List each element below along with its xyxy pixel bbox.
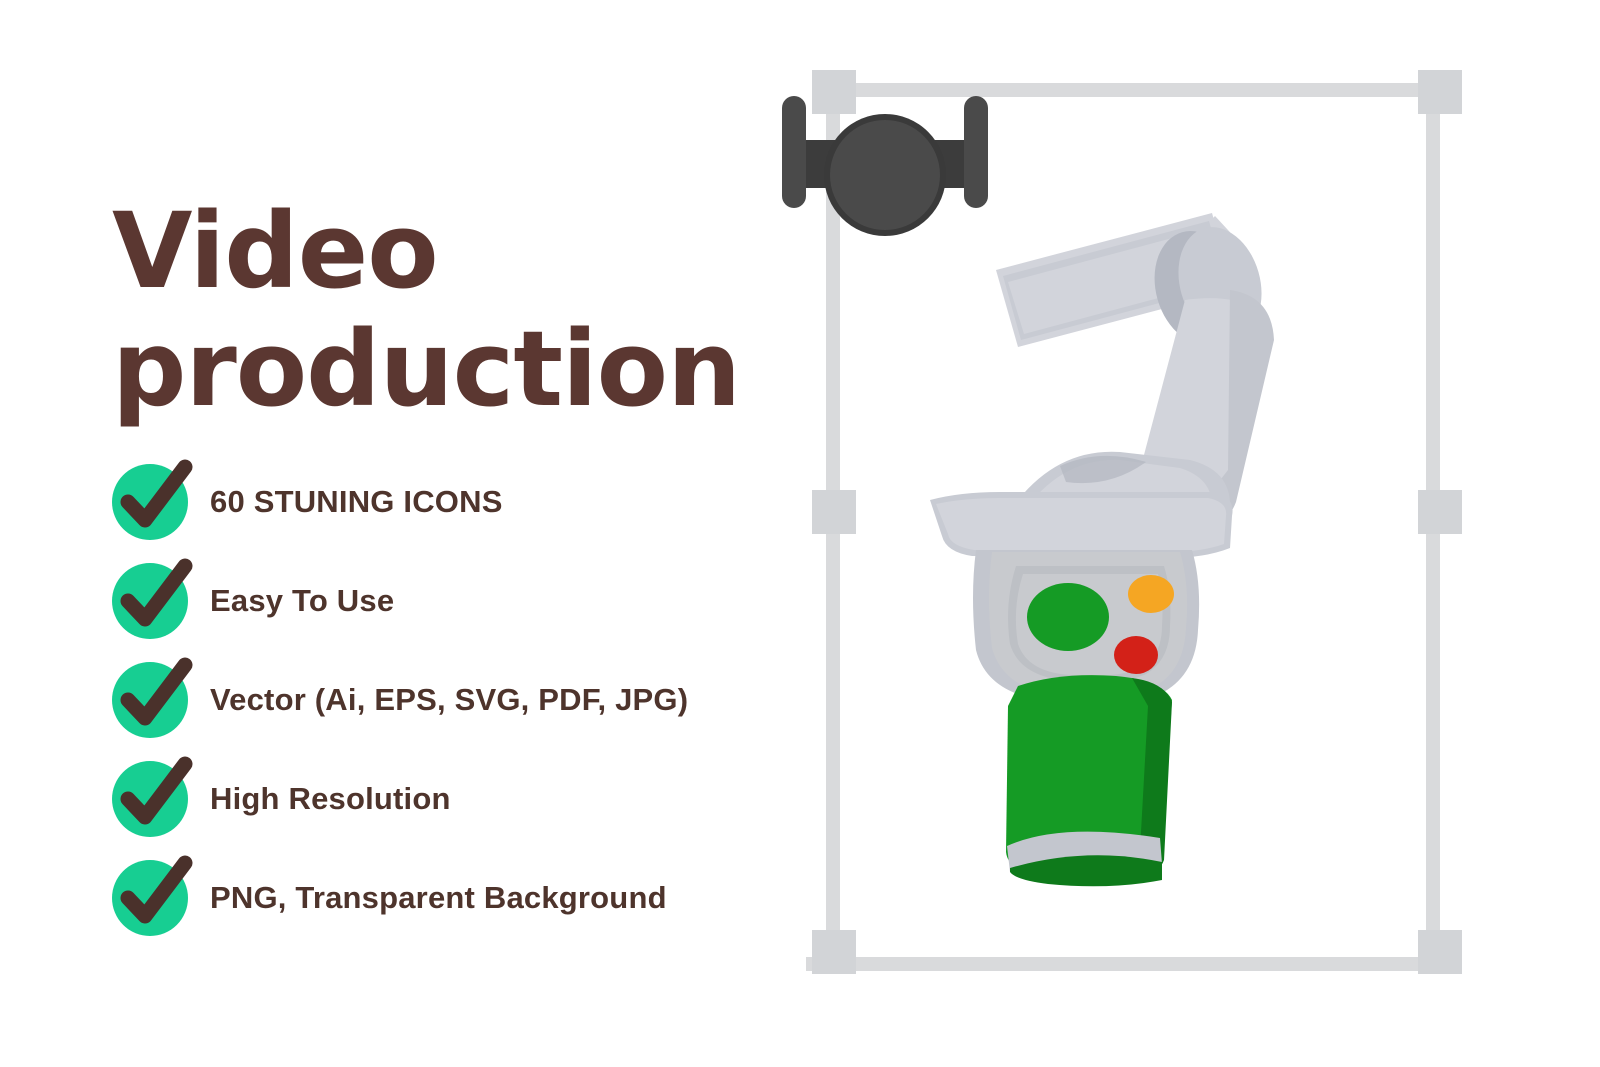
list-item-label: High Resolution [210,781,451,817]
feature-list: 60 STUNING ICONS Easy To Use [112,452,752,947]
check-circle-icon [112,563,188,639]
joystick-green-button[interactable] [1027,583,1109,651]
check-circle-icon [112,662,188,738]
camera-clamp-right [964,96,988,208]
list-item: 60 STUNING ICONS [112,452,752,551]
handle-top-left [812,70,856,114]
list-item: Easy To Use [112,551,752,650]
camera-clamp-left [782,96,806,208]
orange-button[interactable] [1128,575,1174,613]
list-item: Vector (Ai, EPS, SVG, PDF, JPG) [112,650,752,749]
list-item-label: Easy To Use [210,583,394,619]
check-circle-icon [112,464,188,540]
handle-bottom-right [1418,930,1462,974]
list-item-label: 60 STUNING ICONS [210,484,503,520]
red-button[interactable] [1114,636,1158,674]
handle-top-right [1418,70,1462,114]
left-content-panel: Video production 60 STUNING ICONS [0,0,760,1067]
list-item: PNG, Transparent Background [112,848,752,947]
artboard-preview [760,0,1600,1067]
gimbal-handle-grip [1006,675,1172,886]
check-circle-icon [112,860,188,936]
page-title: Video production [112,192,712,429]
list-item-label: Vector (Ai, EPS, SVG, PDF, JPG) [210,682,688,718]
frame-line-top [826,83,1440,97]
camera-head [782,96,988,236]
frame-line-bottom [806,957,1440,971]
poster-canvas: Video production 60 STUNING ICONS [0,0,1600,1067]
gimbal-cradle [930,492,1233,558]
handle-bottom-left [812,930,856,974]
list-item-label: PNG, Transparent Background [210,880,667,916]
list-item: High Resolution [112,749,752,848]
camera-lens-body [830,120,940,230]
check-circle-icon [112,761,188,837]
handle-middle-left [812,490,856,534]
handle-middle-right [1418,490,1462,534]
